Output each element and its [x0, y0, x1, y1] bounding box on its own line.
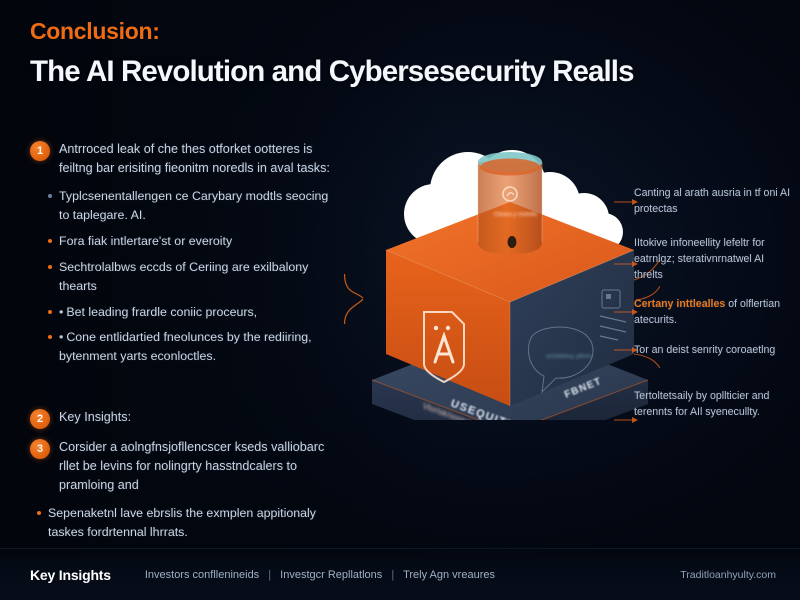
numbered-item-1: 1 Antrroced leak of che thes otforket oo…: [30, 140, 332, 178]
list-item-text: Typlcsenentallengen ce Carybary modtls s…: [59, 187, 332, 225]
list-item-text: •Bet leading frardle coniic proceurs,: [59, 303, 257, 322]
list-item: Typlcsenentallengen ce Carybary modtls s…: [48, 187, 332, 225]
footer-link-1[interactable]: Investors confllenineids: [145, 569, 259, 581]
numbered-item-2-text: Key Insights:: [59, 408, 131, 427]
page-title: The AI Revolution and Cybersesecurity Re…: [30, 55, 760, 88]
list-item-text: Fora fiak intlertare'st or everoity: [59, 232, 232, 251]
list-item-text: •Cone entlidartied fneolunces by the red…: [59, 328, 332, 366]
footer-link-2[interactable]: Investgcr Repllatlons: [280, 569, 382, 581]
list-item-subtext: Cone entlidartied fneolunces by the redi…: [59, 330, 312, 363]
bullet-dot-icon: [48, 194, 52, 198]
list-item-text: Sechtrolalbws eccds of Ceriing are exilb…: [59, 258, 332, 296]
vertical-divider: [343, 142, 369, 542]
bullet-dot-icon: [48, 265, 52, 269]
annotation-5-text: Tertoltetsaily by opllticier and terennt…: [634, 389, 794, 421]
footer-website[interactable]: Traditloanhyulty.com: [680, 569, 776, 581]
number-badge-1: 1: [30, 141, 50, 161]
annotation-2-text: IItokive infoneellity lefeltr for eatrnl…: [634, 236, 794, 284]
numbered-item-2: 2 Key Insights:: [30, 408, 332, 429]
numbered-item-1-text: Antrroced leak of che thes otforket oott…: [59, 140, 332, 178]
footer-brand: Key Insights: [30, 567, 111, 583]
list-item: •Cone entlidartied fneolunces by the red…: [48, 328, 332, 366]
list-item-text: Sepenaketnl lave ebrslis the exmplen app…: [48, 504, 332, 542]
slide-canvas: Conclusion: The AI Revolution and Cybers…: [0, 0, 800, 600]
bullet-dot-icon: [48, 310, 52, 314]
annotation-4-text: Tor an deist senrity coroaetlng: [634, 343, 794, 359]
numbered-item-3-text: Corsider a aolngfnsjofllencscer kseds va…: [59, 438, 332, 495]
data-cylinder: Cloara y motoils: [478, 152, 542, 254]
annotation-4: Tor an deist senrity coroaetlng: [634, 343, 794, 359]
numbered-item-3: 3 Corsider a aolngfnsjofllencscer kseds …: [30, 438, 332, 495]
footer-separator: |: [268, 569, 271, 581]
number-badge-3: 3: [30, 439, 50, 459]
list-item-subtext: Bet leading frardle coniic proceurs,: [66, 305, 257, 319]
footer-bar: Key Insights Investors confllenineids | …: [0, 548, 800, 600]
number-badge-2: 2: [30, 409, 50, 429]
annotation-3: Certany inttlealles of olflertian atecur…: [634, 297, 794, 329]
annotation-list: Canting al arath ausria in tf oni AI pro…: [634, 186, 794, 439]
panel-caption: ortsbbbvy plbrlo: [546, 353, 592, 360]
annotation-1-text: Canting al arath ausria in tf oni AI pro…: [634, 186, 794, 218]
annotation-5: Tertoltetsaily by opllticier and terennt…: [634, 389, 794, 421]
content-block-1: 1 Antrroced leak of che thes otforket oo…: [30, 140, 332, 373]
footer-links: Investors confllenineids | Investgcr Rep…: [145, 569, 495, 581]
footer-link-3[interactable]: Trely Agn vreaures: [403, 569, 495, 581]
annotation-3-text: Certany inttlealles of olflertian atecur…: [634, 297, 794, 329]
footer-separator: |: [391, 569, 394, 581]
content-block-2: 2 Key Insights: 3 Corsider a aolngfnsjof…: [30, 408, 332, 549]
list-item: •Bet leading frardle coniic proceurs,: [48, 303, 332, 322]
annotation-2: IItokive infoneellity lefeltr for eatrnl…: [634, 236, 794, 284]
bullet-dot-icon: [48, 335, 52, 339]
list-item: Sepenaketnl lave ebrslis the exmplen app…: [37, 504, 332, 542]
annotation-3-lead: Certany inttlealles: [634, 298, 725, 310]
bullet-dot-icon: [48, 239, 52, 243]
cylinder-caption: Cloara y motoils: [494, 212, 537, 218]
kicker-label: Conclusion:: [30, 18, 330, 45]
annotation-1: Canting al arath ausria in tf oni AI pro…: [634, 186, 794, 218]
bullet-dot-icon: [37, 511, 41, 515]
list-item: Sechtrolalbws eccds of Ceriing are exilb…: [48, 258, 332, 296]
list-item: Fora fiak intlertare'st or everoity: [48, 232, 332, 251]
headline-group: Conclusion: The AI Revolution and Cybers…: [30, 18, 330, 88]
